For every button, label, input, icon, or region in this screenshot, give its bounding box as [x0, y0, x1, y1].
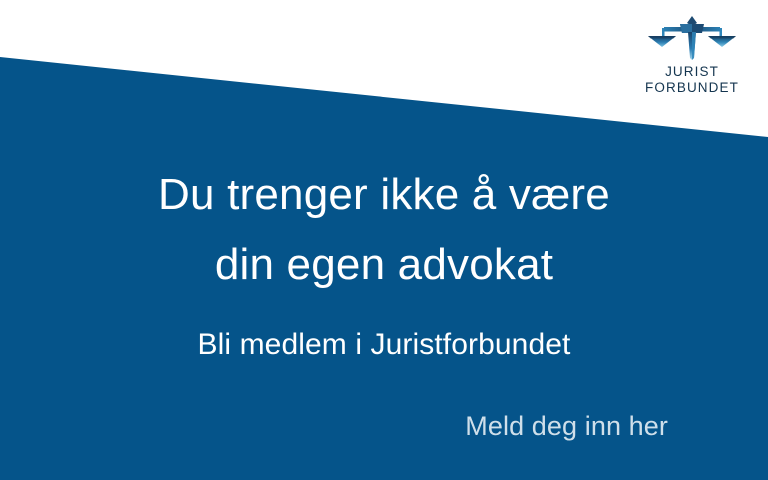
headline: Du trenger ikke å være din egen advokat [0, 160, 768, 299]
banner-content: Du trenger ikke å være din egen advokat … [0, 0, 768, 480]
subtitle: Bli medlem i Juristforbundet [0, 326, 768, 364]
headline-line-2: din egen advokat [0, 230, 768, 300]
promo-banner: JURIST FORBUNDET Du trenger ikke å være … [0, 0, 768, 480]
headline-line-1: Du trenger ikke å være [0, 160, 768, 230]
signup-cta-link[interactable]: Meld deg inn her [465, 410, 668, 444]
